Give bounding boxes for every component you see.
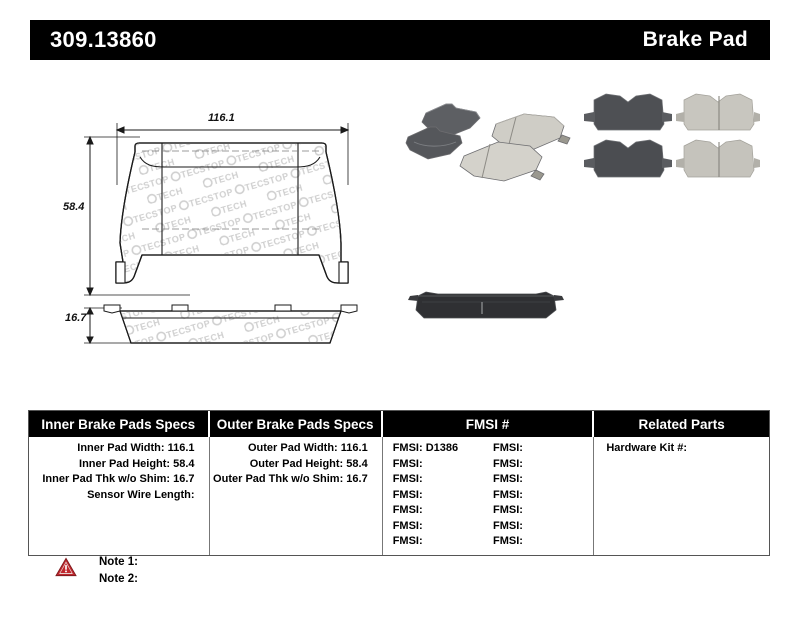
fmsi-entry: FMSI: [393, 503, 493, 519]
column-header-fmsi: FMSI # [383, 411, 595, 437]
pad-light-bottom-right [676, 140, 760, 177]
outer-pad-thickness: Outer Pad Thk w/o Shim: 16.7 [210, 472, 382, 488]
fmsi-entry: FMSI: D1386 [393, 441, 493, 457]
inner-pad-height: Inner Pad Height: 58.4 [29, 457, 209, 473]
fmsi-entry: FMSI: [493, 488, 593, 504]
pad-grid-svg [580, 88, 760, 192]
pad-set-angled-svg [404, 86, 574, 182]
technical-drawing: STOP TECH STOP TECH [60, 105, 400, 355]
width-dimension-label: 116.1 [208, 112, 235, 124]
part-number: 309.13860 [50, 27, 157, 53]
pad-front-view-svg: STOP TECH STOP TECH [60, 105, 400, 355]
fmsi-entry: FMSI: [393, 488, 493, 504]
product-spec-sheet: 309.13860 Brake Pad STOP TECH STOP TECH [0, 0, 800, 619]
fmsi-column-left: FMSI: D1386 FMSI: FMSI: FMSI: FMSI: FMSI… [393, 441, 493, 550]
fmsi-entry: FMSI: [493, 441, 593, 457]
cell-inner-specs: Inner Pad Width: 116.1 Inner Pad Height:… [29, 437, 210, 555]
spec-table-body: Inner Pad Width: 116.1 Inner Pad Height:… [29, 437, 769, 555]
pad-front-outline [100, 135, 370, 300]
cell-fmsi: FMSI: D1386 FMSI: FMSI: FMSI: FMSI: FMSI… [383, 437, 595, 555]
sensor-wire-length: Sensor Wire Length: [29, 488, 209, 504]
pad-dark-bottom-left [584, 140, 672, 177]
column-header-related-parts: Related Parts [594, 411, 769, 437]
fmsi-entry: FMSI: [393, 534, 493, 550]
header-bar: 309.13860 Brake Pad [30, 20, 770, 60]
pad-side-view [84, 305, 357, 350]
note-2: Note 2: [99, 571, 138, 588]
fmsi-entry: FMSI: [493, 457, 593, 473]
fmsi-entry: FMSI: [493, 519, 593, 535]
column-header-inner-specs: Inner Brake Pads Specs [29, 411, 210, 437]
cell-related-parts: Hardware Kit #: [594, 437, 769, 555]
notes-section: Note 1: Note 2: [55, 554, 138, 588]
outer-pad-width: Outer Pad Width: 116.1 [210, 441, 382, 457]
fmsi-entry: FMSI: [393, 519, 493, 535]
note-lines: Note 1: Note 2: [99, 554, 138, 588]
photo-pad-set-angled [404, 86, 574, 182]
cell-outer-specs: Outer Pad Width: 116.1 Outer Pad Height:… [210, 437, 383, 555]
pad-light-top-right [676, 94, 760, 130]
fmsi-entry: FMSI: [493, 472, 593, 488]
spec-table-header-row: Inner Brake Pads Specs Outer Brake Pads … [29, 411, 769, 437]
pad-dark-top-left [584, 94, 672, 130]
height-dimension-label: 58.4 [63, 201, 84, 213]
photo-pad-grid [580, 88, 760, 192]
fmsi-entry: FMSI: [393, 472, 493, 488]
fmsi-entry: FMSI: [393, 457, 493, 473]
inner-pad-width: Inner Pad Width: 116.1 [29, 441, 209, 457]
spec-table: Inner Brake Pads Specs Outer Brake Pads … [28, 410, 770, 556]
hardware-kit-number: Hardware Kit #: [594, 441, 769, 457]
thickness-dimension-label: 16.7 [65, 312, 86, 324]
warning-triangle-icon [55, 557, 77, 577]
photo-pad-edge-view [396, 282, 572, 334]
outer-pad-height: Outer Pad Height: 58.4 [210, 457, 382, 473]
fmsi-column-right: FMSI: FMSI: FMSI: FMSI: FMSI: FMSI: FMSI… [493, 441, 593, 550]
product-type-title: Brake Pad [643, 28, 748, 52]
pad-edge-view-svg [396, 282, 572, 334]
fmsi-entry: FMSI: [493, 503, 593, 519]
inner-pad-thickness: Inner Pad Thk w/o Shim: 16.7 [29, 472, 209, 488]
fmsi-entry: FMSI: [493, 534, 593, 550]
note-1: Note 1: [99, 554, 138, 571]
column-header-outer-specs: Outer Brake Pads Specs [210, 411, 383, 437]
